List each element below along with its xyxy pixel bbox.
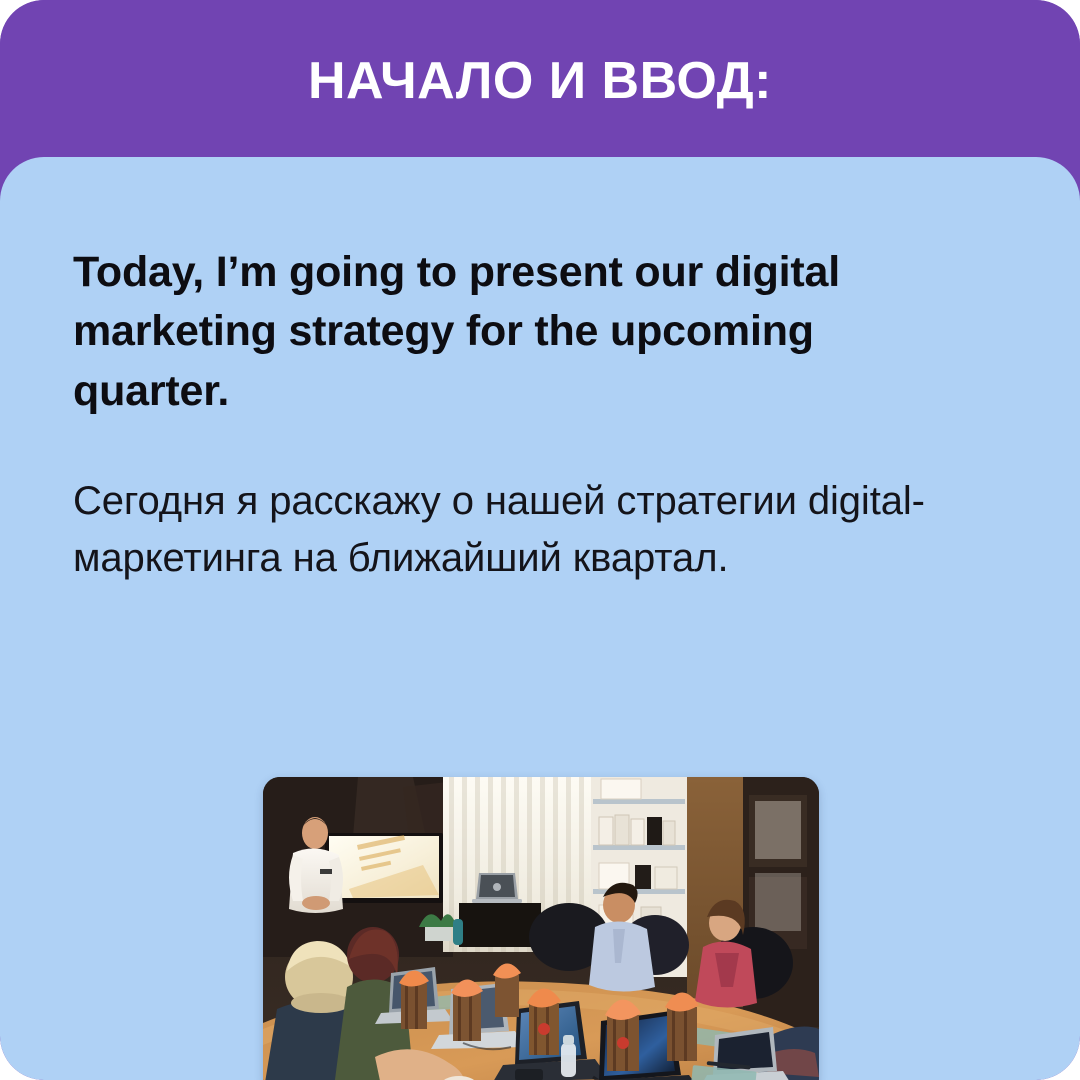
slide-card: НАЧАЛО И ВВОД: Today, I’m going to prese…	[0, 0, 1080, 1080]
text-block: Today, I’m going to present our digital …	[73, 243, 1013, 587]
meeting-room-photo-illustration	[263, 777, 819, 1080]
slide-header: НАЧАЛО И ВВОД:	[0, 0, 1080, 170]
meeting-room-photo	[263, 777, 819, 1080]
page-title: НАЧАЛО И ВВОД:	[308, 54, 772, 109]
english-paragraph: Today, I’m going to present our digital …	[73, 243, 923, 421]
slide-body-panel: Today, I’m going to present our digital …	[0, 157, 1080, 1080]
russian-paragraph: Сегодня я расскажу о нашей стратегии dig…	[73, 473, 1013, 587]
